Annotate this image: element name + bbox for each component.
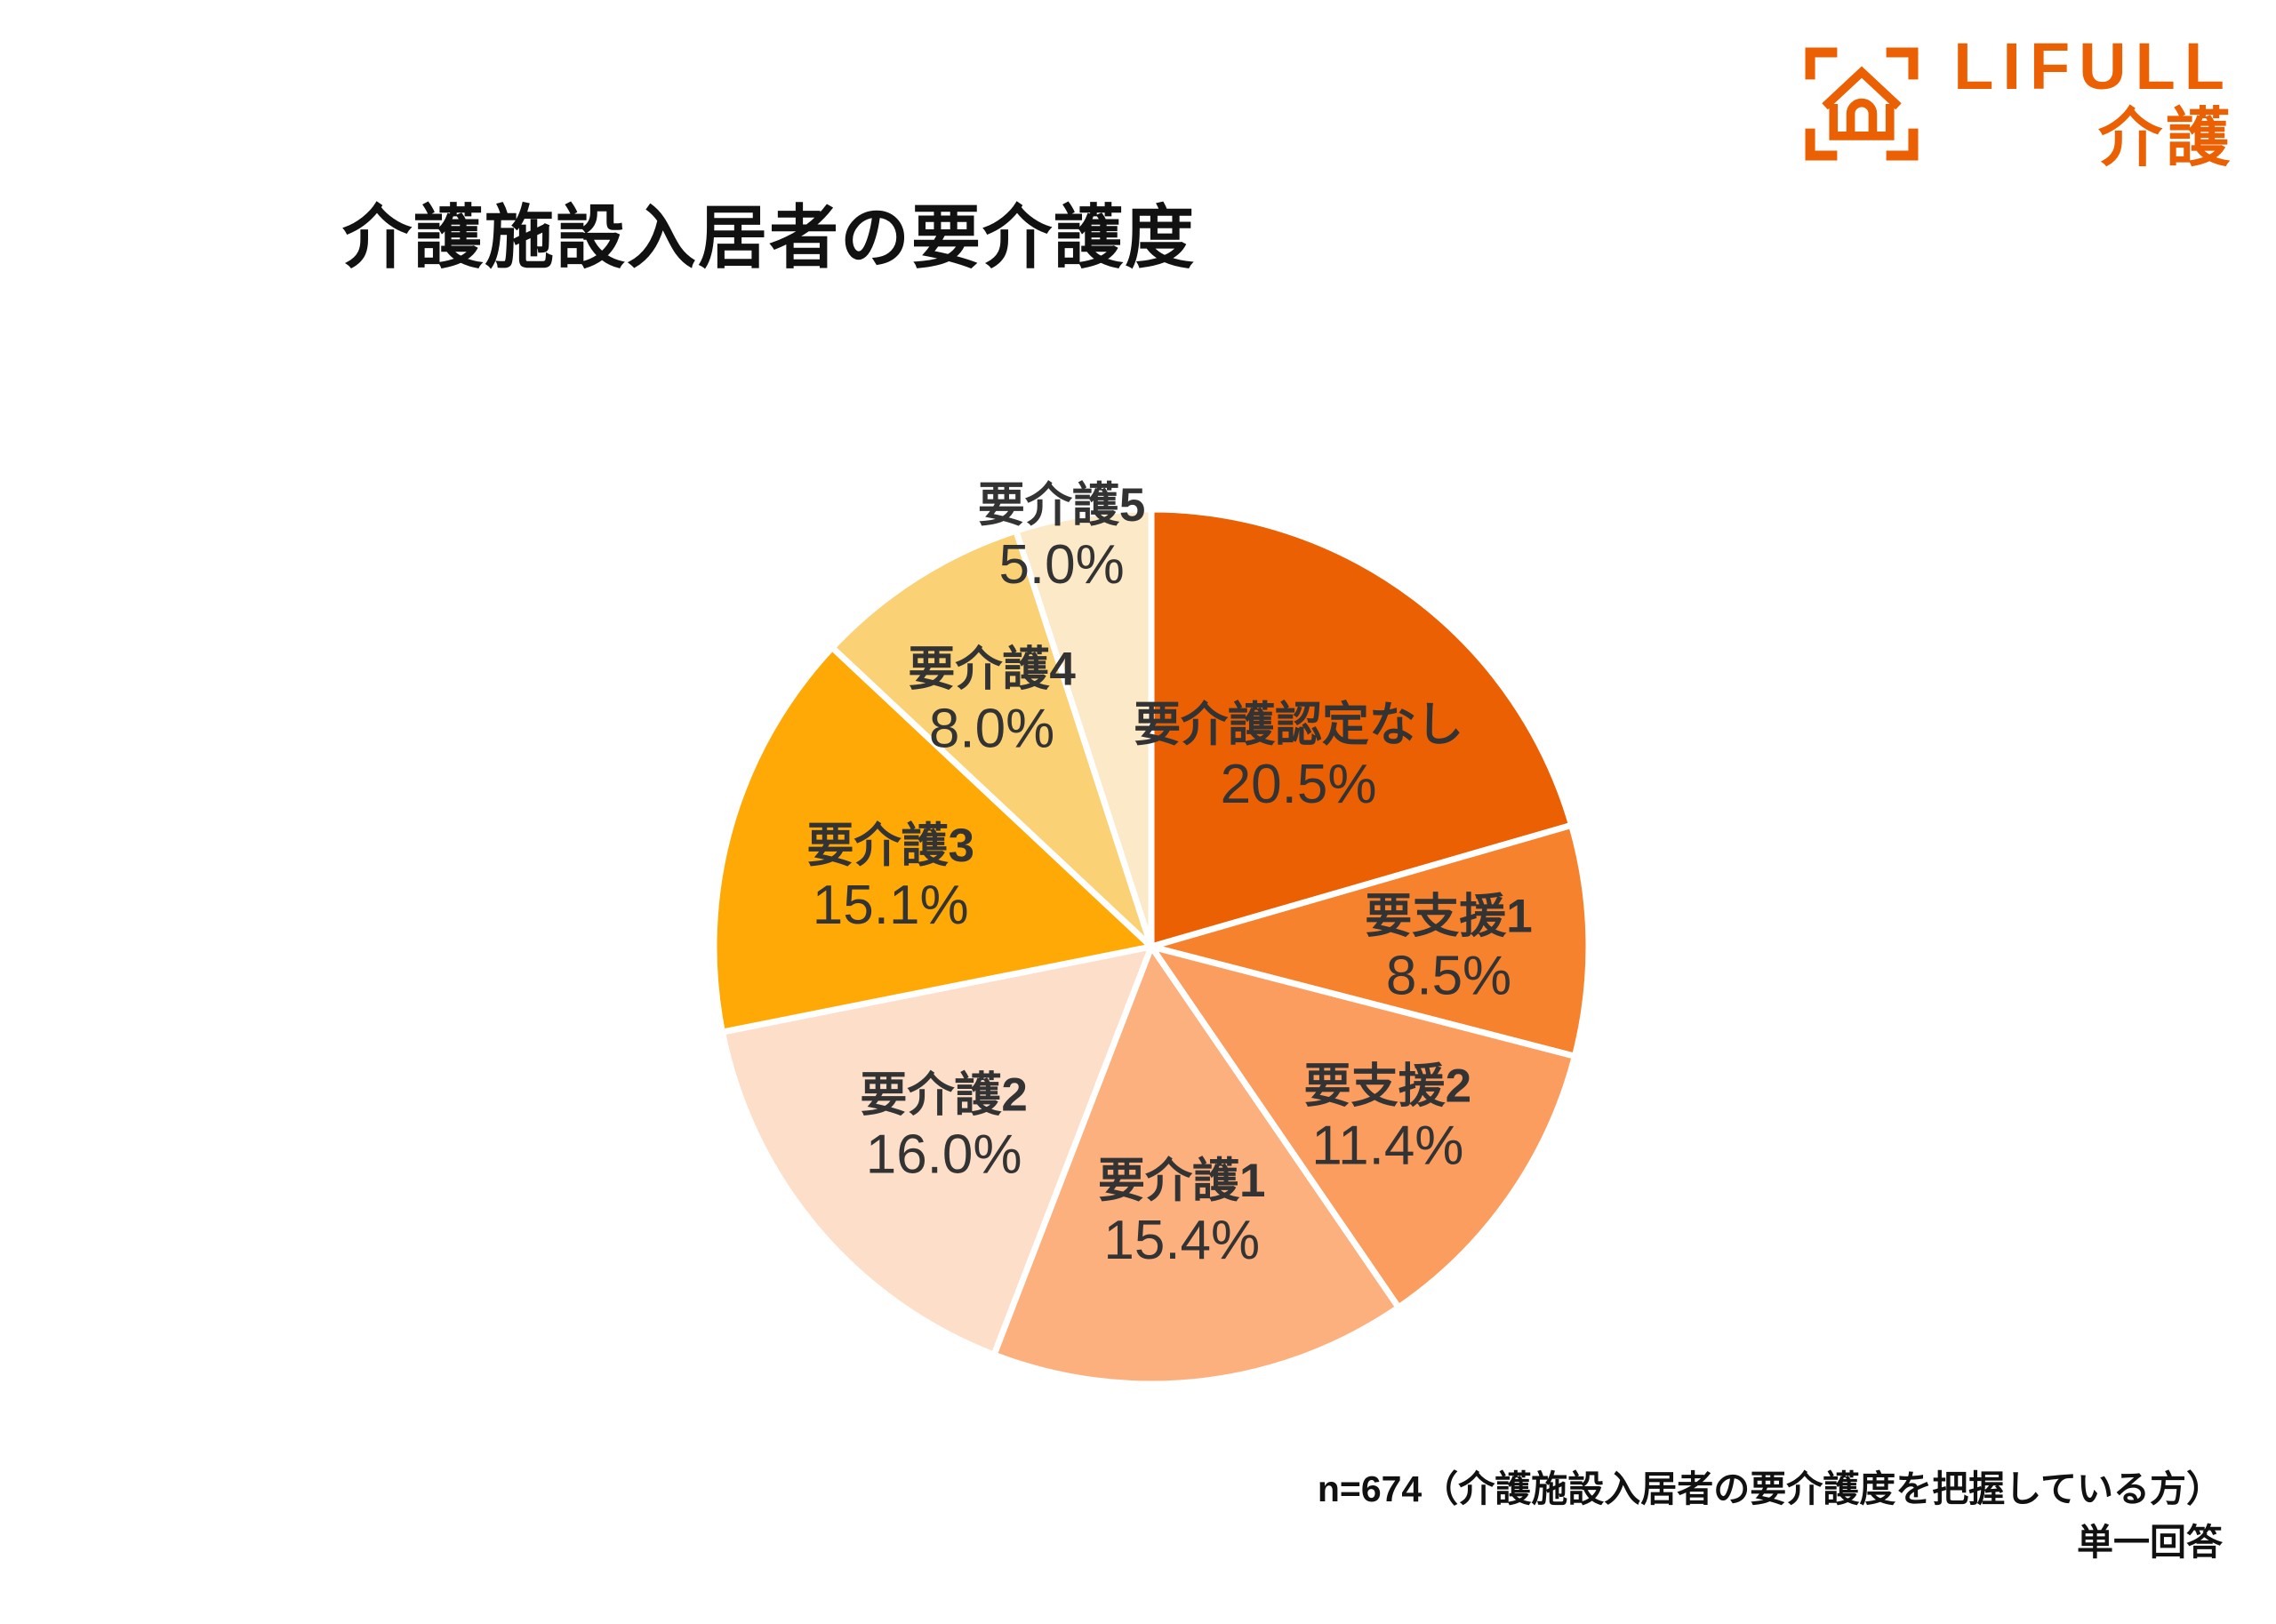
pie-chart: 要介護認定なし20.5%要支援18.5%要支援211.4%要介護115.4%要介… [0,0,2276,1624]
pie-slice-label: 要支援2 [1304,1060,1471,1112]
pie-slice-value: 5.0% [998,534,1124,596]
pie-slice-label: 要介護4 [908,644,1076,696]
pie-slice-label: 要支援1 [1365,890,1532,942]
pie-slice-value: 8.0% [929,699,1054,760]
pie-slice-label: 要介護1 [1098,1155,1265,1207]
pie-slice-value: 16.0% [866,1124,1022,1185]
pie-chart-svg: 要介護認定なし20.5%要支援18.5%要支援211.4%要介護115.4%要介… [0,0,2276,1624]
pie-slice-label: 要介護認定なし [1134,699,1463,751]
pie-slice-label: 要介護2 [860,1068,1027,1121]
pie-slice-value: 15.1% [813,875,969,936]
pie-slice-value: 11.4% [1311,1115,1463,1176]
footnote-line-1: n=674（介護施設入居者の要介護度を把握している方） [1318,1463,2223,1516]
footnote-line-2: 単一回答 [1318,1516,2223,1569]
pie-slice-label: 要介護3 [806,820,974,872]
pie-slice-value: 15.4% [1103,1210,1260,1271]
pie-slice-value: 8.5% [1386,945,1511,1006]
chart-footnote: n=674（介護施設入居者の要介護度を把握している方） 単一回答 [1318,1463,2223,1569]
pie-slice-label: 要介護5 [978,479,1145,532]
pie-slice-value: 20.5% [1221,754,1377,815]
